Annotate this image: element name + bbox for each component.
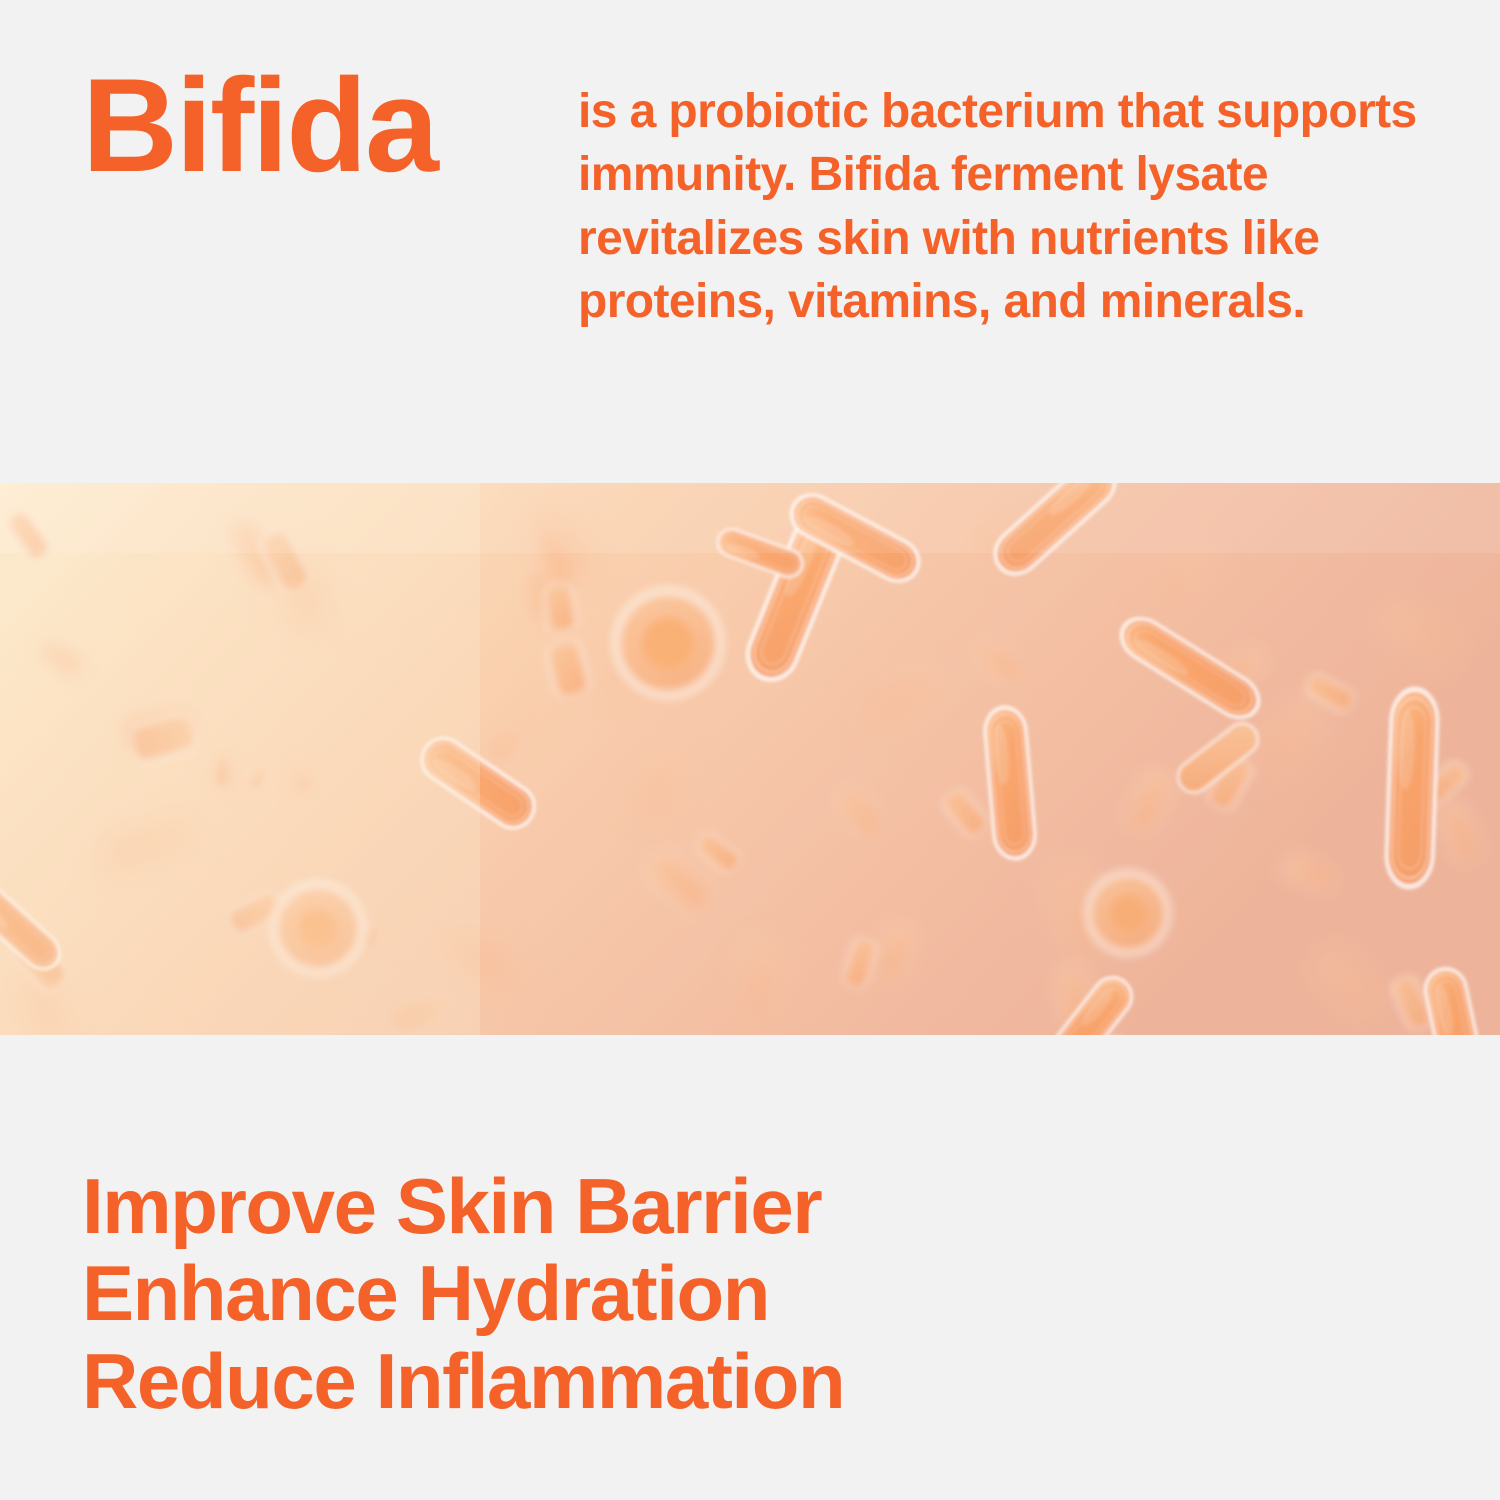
bacteria-image-band — [0, 483, 1500, 1035]
benefit-item: Reduce Inflammation — [82, 1338, 844, 1425]
header-section: Bifida is a probiotic bacterium that sup… — [0, 0, 1500, 483]
header-description: is a probiotic bacterium that supports i… — [578, 80, 1438, 333]
benefits-section: Improve Skin Barrier Enhance Hydration R… — [0, 1035, 1500, 1500]
ingredient-infographic: Bifida is a probiotic bacterium that sup… — [0, 0, 1500, 1500]
benefit-item: Improve Skin Barrier — [82, 1163, 844, 1250]
bacteria-illustration — [0, 483, 1500, 1035]
benefits-list: Improve Skin Barrier Enhance Hydration R… — [82, 1163, 844, 1425]
page-title: Bifida — [82, 60, 436, 193]
benefit-item: Enhance Hydration — [82, 1250, 844, 1337]
